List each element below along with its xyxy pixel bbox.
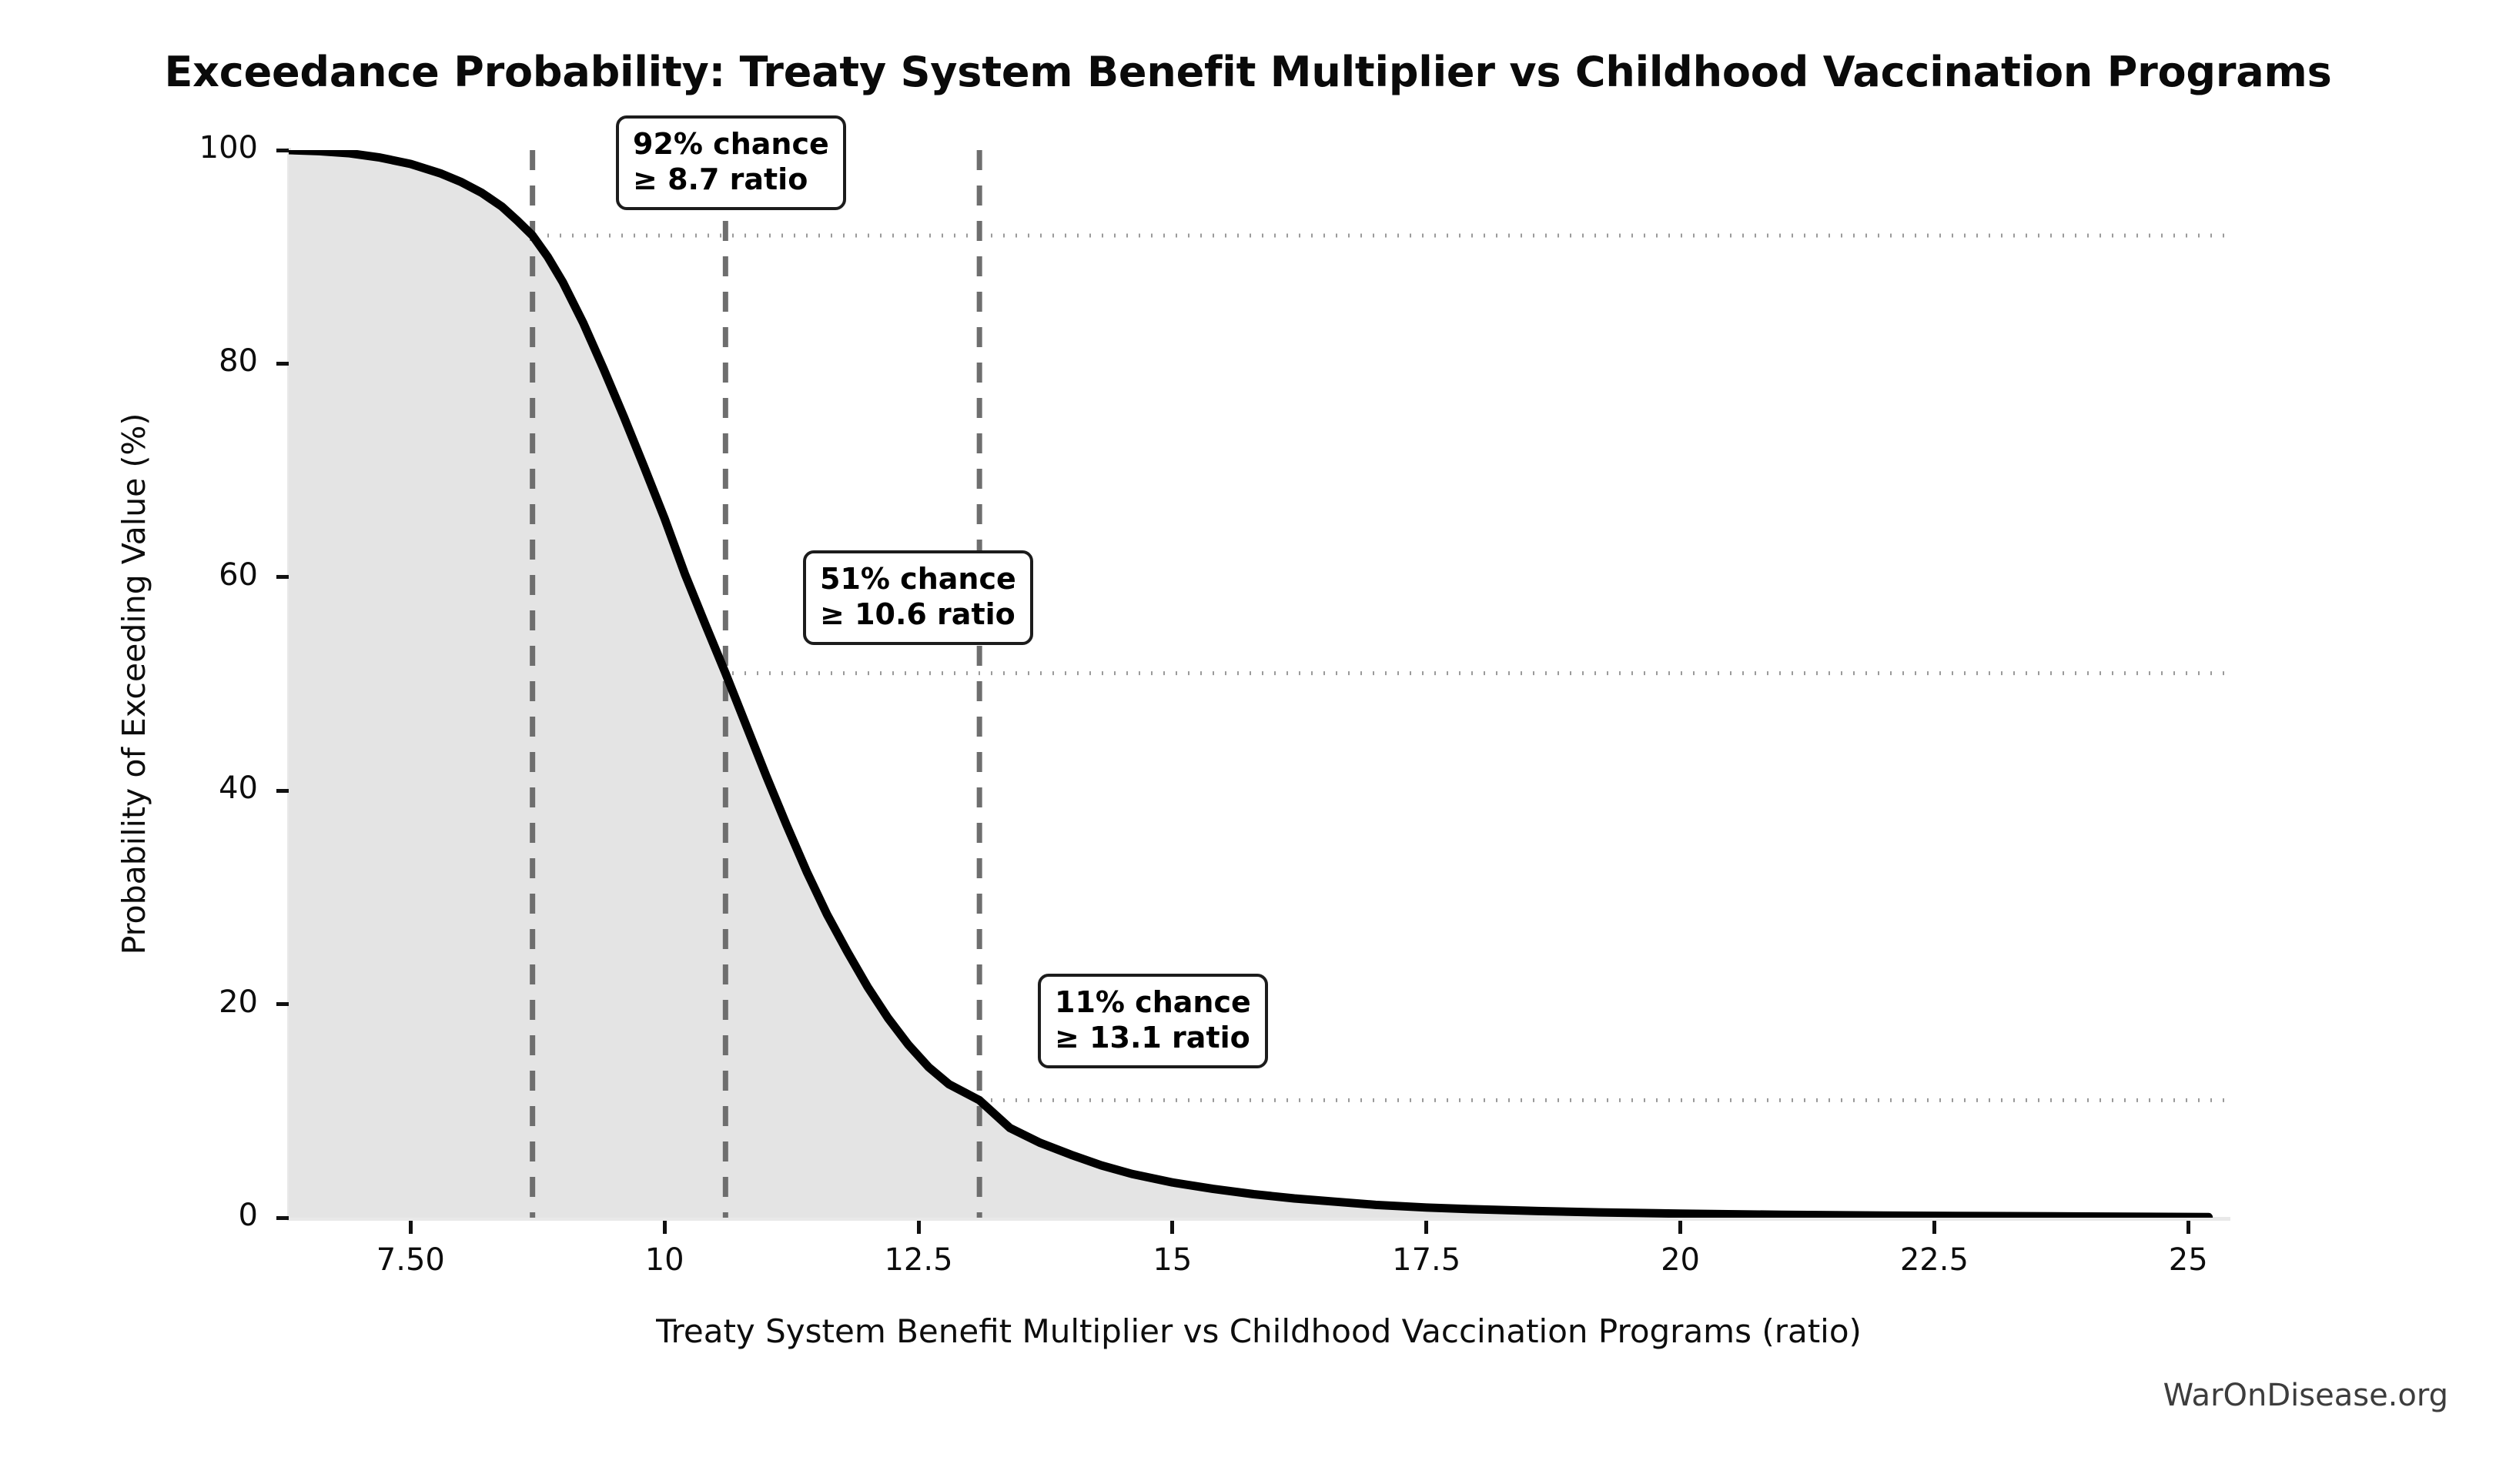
y-tick-mark-80: [276, 362, 289, 366]
x-tick-label-7.50: 7.50: [376, 1242, 445, 1278]
annotation-92: 92% chance ≥ 8.7 ratio: [616, 115, 846, 210]
page-title: Exceedance Probability: Treaty System Be…: [0, 48, 2496, 96]
x-tick-label-17.5: 17.5: [1392, 1242, 1460, 1278]
annotation-11-line2: ≥ 13.1 ratio: [1055, 1020, 1251, 1055]
x-tick-mark-12.5: [917, 1221, 921, 1234]
x-tick-label-12.5: 12.5: [884, 1242, 952, 1278]
y-tick-mark-100: [276, 149, 289, 152]
x-tick-label-25: 25: [2169, 1242, 2208, 1278]
y-tick-mark-40: [276, 789, 289, 793]
annotation-11-line1: 11% chance: [1055, 984, 1251, 1020]
chart-figure: Exceedance Probability: Treaty System Be…: [0, 0, 2496, 1484]
y-axis-label: Probability of Exceeding Value (%): [115, 150, 152, 1218]
x-tick-mark-20: [1678, 1221, 1682, 1234]
x-tick-label-10: 10: [645, 1242, 684, 1278]
annotation-51: 51% chance ≥ 10.6 ratio: [803, 550, 1033, 645]
y-tick-mark-60: [276, 575, 289, 579]
annotation-51-line2: ≥ 10.6 ratio: [820, 597, 1016, 632]
x-tick-label-20: 20: [1661, 1242, 1700, 1278]
annotation-51-line1: 51% chance: [820, 561, 1016, 597]
x-tick-mark-7.50: [409, 1221, 413, 1234]
y-tick-mark-0: [276, 1216, 289, 1220]
annotation-92-line1: 92% chance: [633, 126, 829, 162]
annotation-92-line2: ≥ 8.7 ratio: [633, 162, 829, 197]
x-tick-label-15: 15: [1153, 1242, 1192, 1278]
x-tick-label-22.5: 22.5: [1900, 1242, 1969, 1278]
watermark: WarOnDisease.org: [2163, 1378, 2448, 1413]
x-tick-mark-15: [1170, 1221, 1174, 1234]
x-axis-label: Treaty System Benefit Multiplier vs Chil…: [289, 1312, 2229, 1350]
x-tick-mark-10: [663, 1221, 667, 1234]
x-tick-mark-22.5: [1932, 1221, 1936, 1234]
x-tick-mark-25: [2187, 1221, 2190, 1234]
y-tick-mark-20: [276, 1002, 289, 1006]
annotation-11: 11% chance ≥ 13.1 ratio: [1038, 974, 1268, 1068]
x-tick-mark-17.5: [1424, 1221, 1428, 1234]
